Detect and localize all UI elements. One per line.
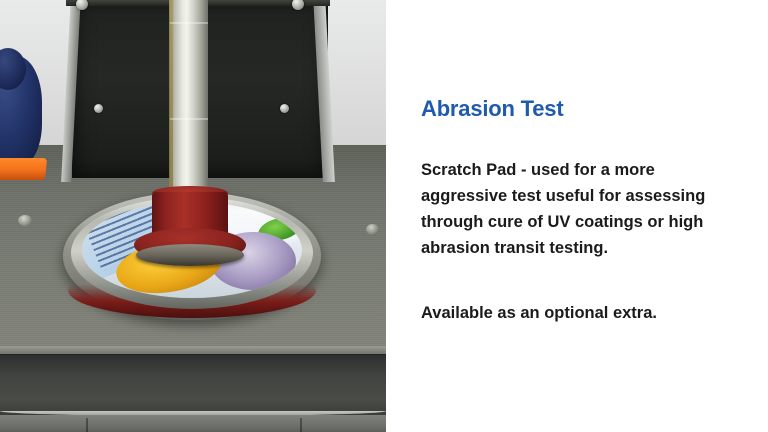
scratch-pad-disc	[136, 244, 244, 266]
bench-bolt-right-icon	[366, 224, 379, 235]
text-panel: Abrasion Test Scratch Pad - used for a m…	[386, 0, 768, 432]
machine-base	[0, 415, 386, 432]
machine-base-seam-left	[86, 418, 88, 432]
orange-fixture-base	[0, 158, 47, 180]
product-photo	[0, 0, 386, 432]
bench-bolt-icon	[18, 215, 32, 226]
piston-rod-ring-lower	[170, 118, 208, 120]
piston-rod-ring-upper	[170, 22, 208, 24]
body-paragraph-primary: Scratch Pad - used for a more aggressive…	[421, 157, 733, 261]
frame-screw-left-icon	[94, 104, 103, 113]
piston-rod	[170, 0, 208, 200]
body-paragraph-secondary: Available as an optional extra.	[421, 300, 733, 326]
control-panel	[0, 355, 386, 415]
piston-rod-brass-edge	[169, 0, 173, 200]
frame-screw-right-icon	[280, 104, 289, 113]
page-title: Abrasion Test	[421, 96, 563, 122]
slide-root: Abrasion Test Scratch Pad - used for a m…	[0, 0, 768, 432]
machine-base-seam-right	[300, 418, 302, 432]
